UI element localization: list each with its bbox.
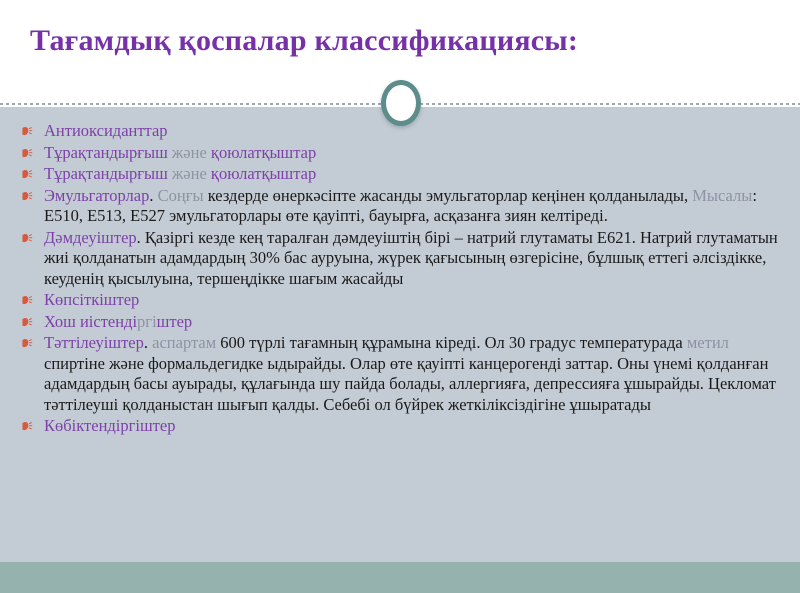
list-item: Эмульгаторлар. Соңғы кездерде өнеркәсіпт…: [18, 186, 786, 227]
page-title: Тағамдық қоспалар классификациясы:: [30, 24, 790, 58]
text-run: Соңғы: [158, 186, 208, 205]
text-run: метил: [687, 333, 729, 352]
text-run: Тұрақтандырғыш: [44, 143, 172, 162]
text-run: Хош иістенді: [44, 312, 137, 331]
bullet-marker-icon: [20, 147, 33, 160]
bullet-marker-icon: [20, 168, 33, 181]
text-run: келтіреді.: [540, 206, 607, 225]
text-run: .: [144, 333, 152, 352]
list-item: Хош иістендіргіштер: [18, 312, 786, 333]
list-item-text: Антиоксиданттар: [44, 121, 168, 140]
text-run: Көпсіткіштер: [44, 290, 139, 309]
list-item: Тұрақтандырғыш және қоюлатқыштар: [18, 143, 786, 164]
text-run: .: [149, 186, 157, 205]
text-run: және: [172, 143, 211, 162]
text-run: Антиоксиданттар: [44, 121, 168, 140]
list-item-text: Тәттілеуіштер. аспартам 600 түрлі тағамн…: [44, 333, 776, 414]
list-item: Көбіктендіргіштер: [18, 416, 786, 437]
decorative-ring-icon: [381, 80, 421, 126]
bullet-list: АнтиоксиданттарТұрақтандырғыш және қоюла…: [0, 107, 800, 437]
list-item-text: Көбіктендіргіштер: [44, 416, 175, 435]
text-run: қоюлатқыштар: [211, 164, 316, 183]
text-run: Эмульгаторлар: [44, 186, 149, 205]
bullet-marker-icon: [20, 232, 33, 245]
text-run: Дәмдеуіштер: [44, 228, 137, 247]
slide-footer-bar: [0, 562, 800, 593]
list-item: Дәмдеуіштер. Қазіргі кезде кең таралған …: [18, 228, 786, 290]
list-item: Тәттілеуіштер. аспартам 600 түрлі тағамн…: [18, 333, 786, 415]
text-run: және: [172, 164, 211, 183]
list-item: Тұрақтандырғыш және қоюлатқыштар: [18, 164, 786, 185]
list-item-text: Көпсіткіштер: [44, 290, 139, 309]
bullet-marker-icon: [20, 125, 33, 138]
text-run: Көбіктендіргіштер: [44, 416, 175, 435]
text-run: Мысалы: [692, 186, 752, 205]
list-item-text: Дәмдеуіштер. Қазіргі кезде кең таралған …: [44, 228, 778, 288]
text-run: қоюлатқыштар: [211, 143, 316, 162]
text-run: Тұрақтандырғыш: [44, 164, 172, 183]
text-run: кездерде өнеркәсіпте жасанды эмульгаторл…: [208, 186, 693, 205]
text-run: штер: [157, 312, 193, 331]
bullet-marker-icon: [20, 420, 33, 433]
list-item-text: Тұрақтандырғыш және қоюлатқыштар: [44, 164, 316, 183]
presentation-slide: Stud.kz Stud.kz Stud.kz Тағамдық қоспала…: [0, 0, 800, 593]
text-run: спиртіне және формальдегидке ыдырайды. О…: [44, 354, 776, 414]
list-item-text: Хош иістендіргіштер: [44, 312, 192, 331]
bullet-marker-icon: [20, 337, 33, 350]
list-item: Көпсіткіштер: [18, 290, 786, 311]
list-item-text: Тұрақтандырғыш және қоюлатқыштар: [44, 143, 316, 162]
text-run: 600 түрлі тағамның құрамына кіреді. Ол 3…: [220, 333, 687, 352]
bullet-marker-icon: [20, 316, 33, 329]
bullet-marker-icon: [20, 190, 33, 203]
text-run: Тәттілеуіштер: [44, 333, 144, 352]
text-run: ргі: [137, 312, 157, 331]
text-run: . Қазіргі кезде кең таралған дәмдеуіштің…: [44, 228, 778, 288]
text-run: аспартам: [152, 333, 220, 352]
bullet-marker-icon: [20, 294, 33, 307]
slide-content: АнтиоксиданттарТұрақтандырғыш және қоюла…: [0, 107, 800, 438]
list-item-text: Эмульгаторлар. Соңғы кездерде өнеркәсіпт…: [44, 186, 757, 226]
